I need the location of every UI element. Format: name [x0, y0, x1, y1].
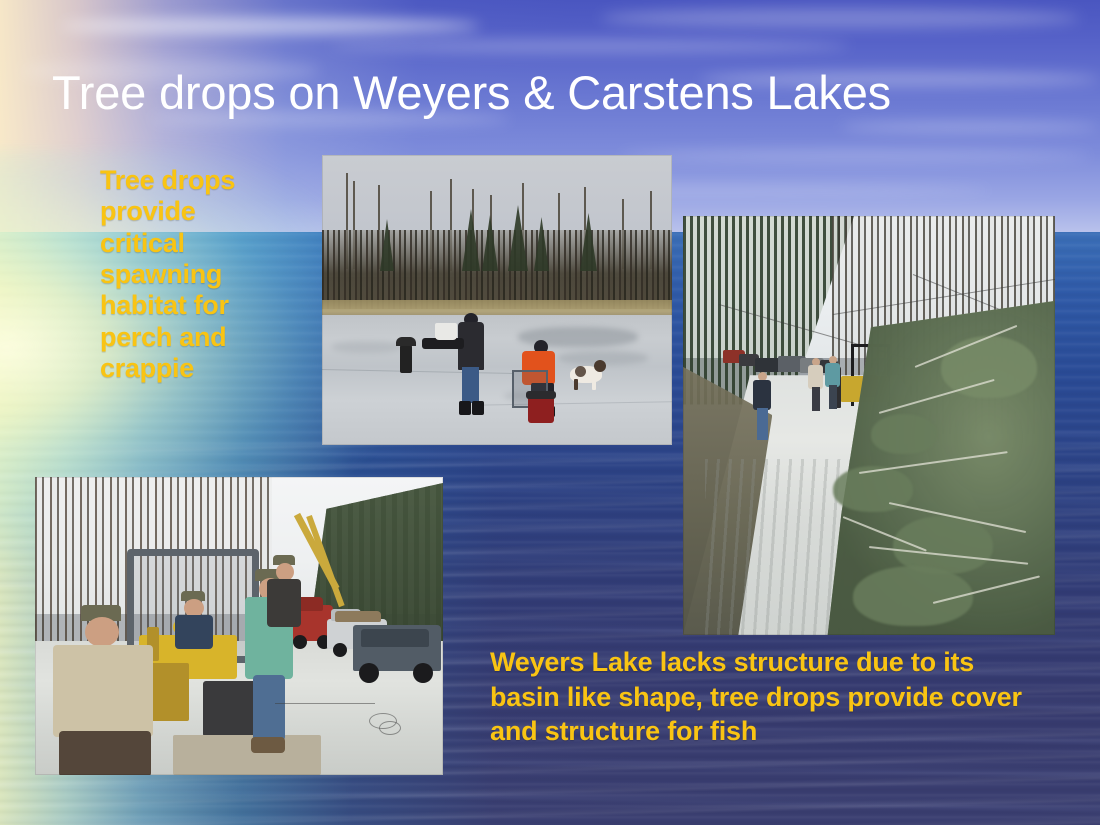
- tree-pile-road-photo[interactable]: [683, 216, 1055, 635]
- ice-fishing-photo[interactable]: [322, 155, 672, 445]
- cloud-wisp: [600, 8, 1080, 28]
- cloud-wisp: [620, 150, 1090, 161]
- page-title: Tree drops on Weyers & Carstens Lakes: [52, 68, 1052, 117]
- photo-frame: [683, 216, 1055, 635]
- cloud-wisp: [60, 18, 480, 34]
- photo-frame: [322, 155, 672, 445]
- cloud-wisp: [330, 40, 850, 52]
- caption-bottom: Weyers Lake lacks structure due to its b…: [490, 645, 1050, 749]
- crew-dozer-photo[interactable]: [35, 477, 443, 775]
- presentation-slide: Tree drops on Weyers & Carstens Lakes Tr…: [0, 0, 1100, 825]
- cloud-wisp: [840, 122, 1100, 132]
- photo-frame: [35, 477, 443, 775]
- caption-left: Tree drops provide critical spawning hab…: [100, 165, 278, 384]
